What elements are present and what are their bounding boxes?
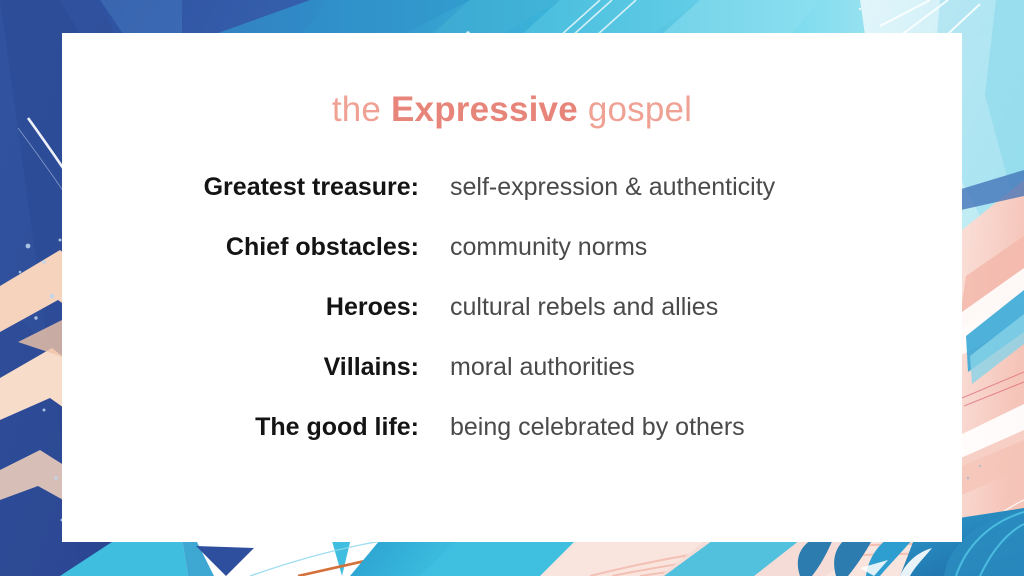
list-item: The good life: being celebrated by other… <box>62 413 962 473</box>
list-item: Heroes: cultural rebels and allies <box>62 293 962 353</box>
row-value-the-good-life: being celebrated by others <box>419 413 745 442</box>
content-card: the Expressive gospel Greatest treasure:… <box>62 33 962 542</box>
row-label-greatest-treasure: Greatest treasure: <box>62 173 419 202</box>
title-emphasis: Expressive <box>391 90 578 129</box>
slide-canvas: the Expressive gospel Greatest treasure:… <box>0 0 1024 576</box>
row-label-chief-obstacles: Chief obstacles: <box>62 233 419 262</box>
row-label-heroes: Heroes: <box>62 293 419 322</box>
row-value-villains: moral authorities <box>419 353 635 382</box>
page-title: the Expressive gospel <box>62 88 962 132</box>
row-label-villains: Villains: <box>62 353 419 382</box>
list-item: Chief obstacles: community norms <box>62 233 962 293</box>
attribute-list: Greatest treasure: self-expression & aut… <box>62 173 962 473</box>
list-item: Greatest treasure: self-expression & aut… <box>62 173 962 233</box>
row-value-greatest-treasure: self-expression & authenticity <box>419 173 775 202</box>
title-suffix: gospel <box>578 90 692 129</box>
row-value-heroes: cultural rebels and allies <box>419 293 718 322</box>
row-value-chief-obstacles: community norms <box>419 233 647 262</box>
list-item: Villains: moral authorities <box>62 353 962 413</box>
row-label-the-good-life: The good life: <box>62 413 419 442</box>
title-prefix: the <box>332 90 391 129</box>
